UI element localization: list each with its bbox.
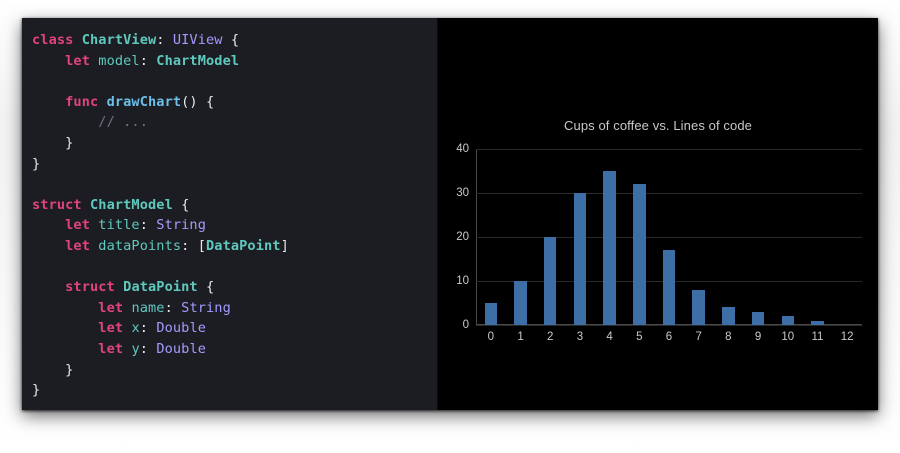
code-token: } bbox=[32, 135, 73, 151]
code-token: } bbox=[32, 382, 40, 398]
code-line: } bbox=[32, 380, 437, 401]
code-line: struct ChartModel { bbox=[32, 195, 437, 216]
chart-bar bbox=[633, 184, 645, 325]
code-token: let bbox=[98, 320, 123, 336]
code-token: ChartModel bbox=[90, 197, 173, 213]
code-token bbox=[82, 197, 90, 213]
x-axis-tick-label: 5 bbox=[636, 331, 642, 343]
code-token: let bbox=[65, 238, 90, 254]
code-token: let bbox=[98, 341, 123, 357]
chart-plot-area: 0102030400123456789101112 bbox=[476, 149, 862, 325]
code-token bbox=[32, 53, 65, 69]
code-token: } bbox=[32, 156, 40, 172]
code-line: } bbox=[32, 133, 437, 154]
chart-panel: Cups of coffee vs. Lines of code 0102030… bbox=[438, 18, 878, 410]
code-token: DataPoint bbox=[123, 279, 198, 295]
code-token: UIView bbox=[173, 32, 223, 48]
code-line: let y: Double bbox=[32, 339, 437, 360]
code-token: ChartModel bbox=[156, 53, 239, 69]
y-gridline bbox=[476, 149, 862, 150]
x-axis-tick-label: 2 bbox=[547, 331, 553, 343]
chart-title: Cups of coffee vs. Lines of code bbox=[438, 118, 878, 133]
code-token bbox=[73, 32, 81, 48]
code-line: class ChartView: UIView { bbox=[32, 30, 437, 51]
code-token: { bbox=[223, 32, 240, 48]
code-line: struct DataPoint { bbox=[32, 277, 437, 298]
y-axis-tick-label: 30 bbox=[456, 187, 469, 199]
code-line: // ... bbox=[32, 112, 437, 133]
chart-bar bbox=[485, 303, 497, 325]
chart-bar bbox=[811, 321, 823, 325]
code-token: let bbox=[98, 300, 123, 316]
code-line: } bbox=[32, 360, 437, 381]
code-token: let bbox=[65, 217, 90, 233]
code-token: drawChart bbox=[107, 94, 182, 110]
code-token: : bbox=[140, 217, 157, 233]
split-panel: class ChartView: UIView { let model: Cha… bbox=[22, 18, 878, 410]
x-axis-tick-label: 10 bbox=[781, 331, 794, 343]
x-axis-tick-label: 11 bbox=[811, 331, 823, 343]
y-axis-tick-label: 0 bbox=[463, 319, 469, 331]
code-token: func bbox=[65, 94, 98, 110]
chart-bar bbox=[574, 193, 586, 325]
code-token: struct bbox=[32, 197, 82, 213]
code-token bbox=[115, 279, 123, 295]
code-token: { bbox=[198, 279, 215, 295]
code-token: title bbox=[98, 217, 139, 233]
code-token bbox=[32, 94, 65, 110]
code-token: // ... bbox=[98, 114, 148, 130]
code-token bbox=[32, 238, 65, 254]
x-axis-tick-label: 0 bbox=[488, 331, 494, 343]
code-token: ] bbox=[281, 238, 289, 254]
code-token: let bbox=[65, 53, 90, 69]
code-line: let dataPoints: [DataPoint] bbox=[32, 236, 437, 257]
code-line: let title: String bbox=[32, 215, 437, 236]
code-token: dataPoints bbox=[98, 238, 181, 254]
code-token: : bbox=[140, 320, 157, 336]
chart-bar bbox=[603, 171, 615, 325]
y-gridline bbox=[476, 193, 862, 194]
code-token: struct bbox=[65, 279, 115, 295]
code-line: let name: String bbox=[32, 298, 437, 319]
code-token: Double bbox=[156, 320, 206, 336]
chart-bar bbox=[692, 290, 704, 325]
code-token: [ bbox=[198, 238, 206, 254]
code-token: Double bbox=[156, 341, 206, 357]
x-axis-tick-label: 4 bbox=[606, 331, 612, 343]
chart-bar bbox=[752, 312, 764, 325]
code-token: : bbox=[140, 341, 157, 357]
code-token: String bbox=[156, 217, 206, 233]
code-token: DataPoint bbox=[206, 238, 281, 254]
code-token bbox=[98, 94, 106, 110]
y-axis-tick-label: 20 bbox=[456, 231, 469, 243]
screenshot-stage: class ChartView: UIView { let model: Cha… bbox=[0, 0, 900, 453]
x-axis-tick-label: 8 bbox=[725, 331, 731, 343]
code-token: class bbox=[32, 32, 73, 48]
x-axis-tick-label: 1 bbox=[517, 331, 523, 343]
x-axis-tick-label: 6 bbox=[666, 331, 672, 343]
code-token: : bbox=[156, 32, 173, 48]
code-token: } bbox=[32, 362, 73, 378]
code-token: : bbox=[140, 53, 157, 69]
code-token bbox=[32, 217, 65, 233]
code-line: let x: Double bbox=[32, 318, 437, 339]
chart-bar bbox=[514, 281, 526, 325]
code-token: : bbox=[181, 238, 198, 254]
code-token bbox=[32, 300, 98, 316]
x-axis-tick-label: 3 bbox=[577, 331, 583, 343]
code-token: ChartView bbox=[82, 32, 157, 48]
code-token: model bbox=[98, 53, 139, 69]
chart-bar bbox=[722, 307, 734, 325]
code-token: () { bbox=[181, 94, 214, 110]
y-axis-tick-label: 40 bbox=[456, 143, 469, 155]
code-token: { bbox=[173, 197, 190, 213]
code-token bbox=[32, 279, 65, 295]
code-token: x bbox=[131, 320, 139, 336]
y-gridline bbox=[476, 325, 862, 326]
code-token: y bbox=[131, 341, 139, 357]
y-axis-tick-label: 10 bbox=[456, 275, 469, 287]
code-line: let model: ChartModel bbox=[32, 51, 437, 72]
code-token: String bbox=[181, 300, 231, 316]
code-token: : bbox=[165, 300, 182, 316]
code-line: func drawChart() { bbox=[32, 92, 437, 113]
x-axis-tick-label: 7 bbox=[695, 331, 701, 343]
code-line: } bbox=[32, 154, 437, 175]
chart-bar bbox=[544, 237, 556, 325]
y-gridline bbox=[476, 237, 862, 238]
code-line bbox=[32, 174, 437, 195]
code-token: name bbox=[131, 300, 164, 316]
x-axis-tick-label: 12 bbox=[841, 331, 854, 343]
chart-bar bbox=[782, 316, 794, 325]
x-axis-tick-label: 9 bbox=[755, 331, 761, 343]
chart-bar bbox=[663, 250, 675, 325]
code-line bbox=[32, 71, 437, 92]
code-line bbox=[32, 257, 437, 278]
code-token bbox=[32, 114, 98, 130]
code-token bbox=[32, 341, 98, 357]
code-token bbox=[32, 320, 98, 336]
code-editor[interactable]: class ChartView: UIView { let model: Cha… bbox=[22, 18, 438, 410]
